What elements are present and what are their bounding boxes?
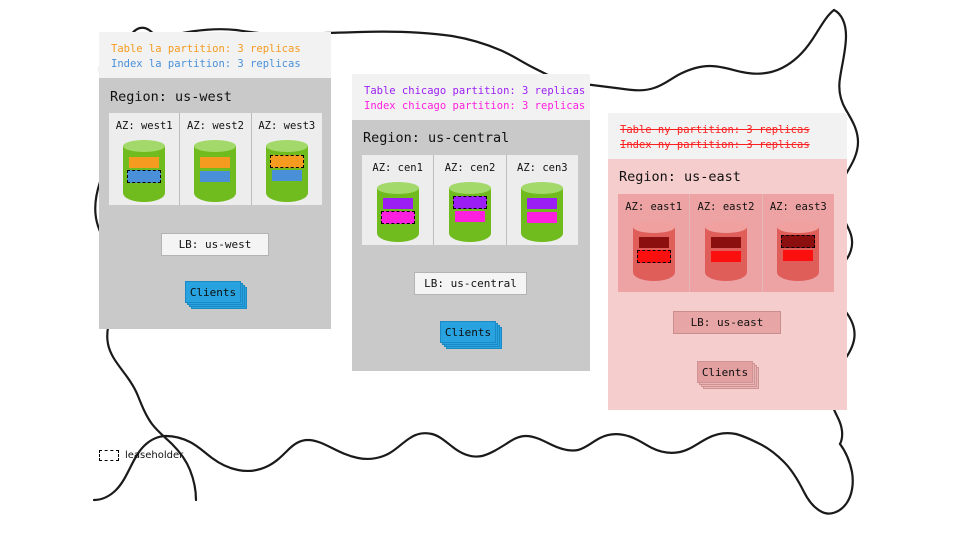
- leaseholder-key: leaseholder: [99, 450, 183, 461]
- az-strip-us-east: AZ: east1 AZ: east2 AZ:: [618, 194, 834, 292]
- legend-panel-us-west: Table la partition: 3 replicas Index la …: [99, 32, 331, 78]
- load-balancer-label: LB: us-central: [424, 277, 517, 290]
- cylinder-top: [633, 221, 675, 233]
- legend-line-table-chicago: Table chicago partition: 3 replicas: [364, 84, 578, 99]
- az-label-cen2: AZ: cen2: [445, 162, 496, 174]
- legend-line-index-ny: Index ny partition: 3 replicas: [620, 138, 835, 153]
- index-ny-replica-bar-leaseholder: [637, 250, 671, 263]
- index-chicago-replica-bar-leaseholder: [381, 211, 415, 224]
- table-la-replica-bar-leaseholder: [270, 155, 304, 168]
- clients-us-west[interactable]: Clients: [185, 281, 249, 309]
- node-cylinder-east3[interactable]: [777, 221, 819, 281]
- load-balancer-label: LB: us-east: [691, 316, 764, 329]
- region-title-us-central: Region: us-central: [363, 130, 509, 146]
- table-chicago-replica-bar: [383, 198, 413, 209]
- clients-box[interactable]: Clients: [185, 281, 241, 303]
- clients-label: Clients: [702, 366, 748, 379]
- index-la-replica-bar-leaseholder: [127, 170, 161, 183]
- clients-us-east[interactable]: Clients: [697, 361, 761, 389]
- cylinder-top: [377, 182, 419, 194]
- az-cell-west3[interactable]: AZ: west3: [251, 113, 322, 205]
- table-ny-replica-bar-leaseholder: [781, 235, 815, 248]
- az-strip-us-west: AZ: west1 AZ: west2 AZ:: [109, 113, 322, 205]
- replica-bars: [633, 237, 675, 263]
- clients-box[interactable]: Clients: [697, 361, 753, 383]
- legend-line-index-chicago: Index chicago partition: 3 replicas: [364, 99, 578, 114]
- az-cell-east3[interactable]: AZ: east3: [762, 194, 834, 292]
- dashed-rectangle-icon: [99, 450, 119, 461]
- node-cylinder-east2[interactable]: [705, 221, 747, 281]
- index-la-replica-bar: [272, 170, 302, 181]
- cylinder-top: [123, 140, 165, 152]
- cylinder-top: [266, 140, 308, 152]
- replica-bars: [377, 198, 419, 224]
- leaseholder-key-label: leaseholder: [125, 450, 183, 461]
- legend-panel-us-east: Table ny partition: 3 replicas Index ny …: [608, 113, 847, 159]
- load-balancer-us-west[interactable]: LB: us-west: [161, 233, 269, 256]
- replica-bars: [266, 155, 308, 181]
- az-cell-east1[interactable]: AZ: east1: [618, 194, 689, 292]
- region-title-us-east: Region: us-east: [619, 169, 741, 185]
- az-cell-cen1[interactable]: AZ: cen1: [362, 155, 433, 245]
- az-label-west2: AZ: west2: [187, 120, 244, 132]
- legend-line-table-la: Table la partition: 3 replicas: [111, 42, 319, 57]
- clients-label: Clients: [445, 326, 491, 339]
- node-cylinder-cen2[interactable]: [449, 182, 491, 242]
- table-la-replica-bar: [200, 157, 230, 168]
- index-chicago-replica-bar: [527, 212, 557, 223]
- index-ny-replica-bar: [783, 250, 813, 261]
- az-label-west1: AZ: west1: [116, 120, 173, 132]
- replica-bars: [194, 157, 236, 182]
- table-ny-replica-bar: [639, 237, 669, 248]
- legend-panel-us-central: Table chicago partition: 3 replicas Inde…: [352, 74, 590, 120]
- replica-bars: [521, 198, 563, 223]
- load-balancer-us-east[interactable]: LB: us-east: [673, 311, 781, 334]
- az-cell-west1[interactable]: AZ: west1: [109, 113, 179, 205]
- az-label-west3: AZ: west3: [258, 120, 315, 132]
- load-balancer-us-central[interactable]: LB: us-central: [414, 272, 527, 295]
- clients-us-central[interactable]: Clients: [440, 321, 504, 349]
- table-ny-replica-bar: [711, 237, 741, 248]
- az-label-cen1: AZ: cen1: [372, 162, 423, 174]
- table-la-replica-bar: [129, 157, 159, 168]
- diagram-canvas: Table la partition: 3 replicas Index la …: [0, 0, 960, 540]
- cylinder-top: [777, 221, 819, 233]
- az-label-cen3: AZ: cen3: [517, 162, 568, 174]
- az-label-east2: AZ: east2: [698, 201, 755, 213]
- legend-line-table-ny: Table ny partition: 3 replicas: [620, 123, 835, 138]
- cylinder-top: [521, 182, 563, 194]
- table-chicago-replica-bar-leaseholder: [453, 196, 487, 209]
- az-label-east1: AZ: east1: [625, 201, 682, 213]
- node-cylinder-west2[interactable]: [194, 140, 236, 202]
- index-la-replica-bar: [200, 171, 230, 182]
- region-title-us-west: Region: us-west: [110, 89, 232, 105]
- az-cell-east2[interactable]: AZ: east2: [689, 194, 761, 292]
- az-cell-cen2[interactable]: AZ: cen2: [433, 155, 505, 245]
- clients-label: Clients: [190, 286, 236, 299]
- cylinder-top: [449, 182, 491, 194]
- az-cell-west2[interactable]: AZ: west2: [179, 113, 250, 205]
- replica-bars: [705, 237, 747, 262]
- index-chicago-replica-bar: [455, 211, 485, 222]
- cylinder-top: [705, 221, 747, 233]
- index-ny-replica-bar: [711, 251, 741, 262]
- replica-bars: [123, 157, 165, 183]
- table-chicago-replica-bar: [527, 198, 557, 209]
- az-strip-us-central: AZ: cen1 AZ: cen2 AZ: ce: [362, 155, 578, 245]
- az-label-east3: AZ: east3: [770, 201, 827, 213]
- replica-bars: [777, 235, 819, 261]
- node-cylinder-cen1[interactable]: [377, 182, 419, 242]
- node-cylinder-west3[interactable]: [266, 140, 308, 202]
- node-cylinder-cen3[interactable]: [521, 182, 563, 242]
- node-cylinder-west1[interactable]: [123, 140, 165, 202]
- replica-bars: [449, 196, 491, 222]
- az-cell-cen3[interactable]: AZ: cen3: [506, 155, 578, 245]
- load-balancer-label: LB: us-west: [179, 238, 252, 251]
- legend-line-index-la: Index la partition: 3 replicas: [111, 57, 319, 72]
- clients-box[interactable]: Clients: [440, 321, 496, 343]
- node-cylinder-east1[interactable]: [633, 221, 675, 281]
